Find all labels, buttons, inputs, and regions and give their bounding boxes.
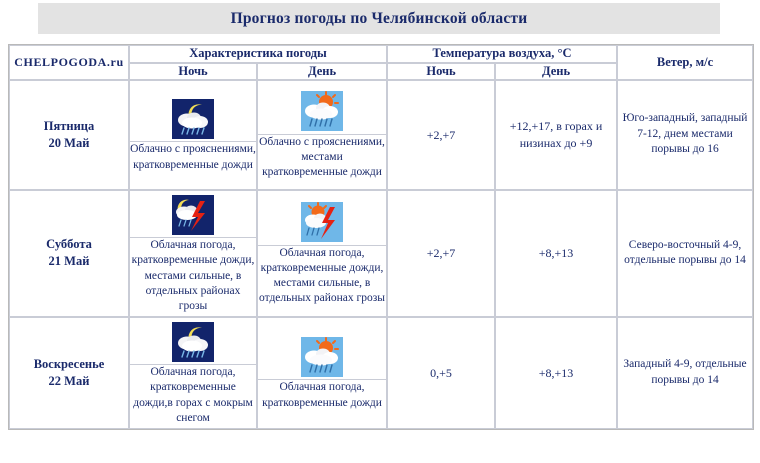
- page-title-banner: Прогноз погоды по Челябинской области: [38, 3, 720, 34]
- temp-day-value: +12,+17, в горах и низинах до +9: [495, 80, 617, 190]
- moon-clouds-rain-icon: [172, 322, 214, 362]
- temp-night-value: +2,+7: [387, 190, 495, 317]
- temp-day-value: +8,+13: [495, 317, 617, 429]
- day-date: 20 Май: [10, 135, 128, 152]
- header-wind-group: Ветер, м/с: [617, 45, 753, 80]
- day-weather-description: Облачная погода, кратковременные дожди, …: [258, 246, 386, 307]
- day-cell: Пятница 20 Май: [9, 80, 129, 190]
- day-date: 21 Май: [10, 253, 128, 270]
- sun-clouds-rain-icon: [301, 91, 343, 131]
- night-weather-description: Облачная погода, кратковременные дожди, …: [130, 238, 256, 314]
- wind-value: Западный 4-9, отдельные порывы до 14: [617, 317, 753, 429]
- night-weather-icon-cell: [130, 319, 256, 365]
- header-row-groups: CHELPOGODA.ru Характеристика погоды Темп…: [9, 45, 753, 63]
- day-weather-icon-cell: [258, 89, 386, 135]
- header-weather-group: Характеристика погоды: [129, 45, 387, 63]
- header-temp-night: Ночь: [387, 63, 495, 80]
- weather-forecast-table: CHELPOGODA.ru Характеристика погоды Темп…: [8, 44, 754, 430]
- day-name: Воскресенье: [10, 356, 128, 373]
- day-weather-icon-cell: [258, 200, 386, 246]
- day-name: Суббота: [10, 236, 128, 253]
- day-name: Пятница: [10, 118, 128, 135]
- header-temperature-group: Температура воздуха, °C: [387, 45, 617, 63]
- table-row: Суббота 21 Май: [9, 190, 753, 317]
- brand-cell: CHELPOGODA.ru: [9, 45, 129, 80]
- night-weather-description: Облачно с прояснениями, кратковременные …: [130, 142, 256, 172]
- day-weather-description: Облачно с прояснениями, местами кратковр…: [258, 135, 386, 181]
- night-weather-icon-cell: [130, 192, 256, 238]
- page-title: Прогноз погоды по Челябинской области: [231, 10, 528, 28]
- table-header: CHELPOGODA.ru Характеристика погоды Темп…: [9, 45, 753, 80]
- day-weather-cell: Облачная погода, кратковременные дожди: [257, 317, 387, 429]
- sun-clouds-rain-icon: [301, 337, 343, 377]
- moon-clouds-rain-icon: [172, 99, 214, 139]
- temp-day-value: +8,+13: [495, 190, 617, 317]
- day-weather-cell: Облачно с прояснениями, местами кратковр…: [257, 80, 387, 190]
- night-weather-icon-cell: [130, 96, 256, 142]
- day-weather-icon-cell: [258, 334, 386, 380]
- temp-night-value: 0,+5: [387, 317, 495, 429]
- wind-value: Северо-восточный 4-9, отдельные порывы д…: [617, 190, 753, 317]
- night-weather-cell: Облачная погода, кратковременные дожди, …: [129, 190, 257, 317]
- day-cell: Воскресенье 22 Май: [9, 317, 129, 429]
- header-weather-night: Ночь: [129, 63, 257, 80]
- wind-value: Юго-западный, западный 7-12, днем местам…: [617, 80, 753, 190]
- temp-night-value: +2,+7: [387, 80, 495, 190]
- table-row: Воскресенье 22 Май: [9, 317, 753, 429]
- table-row: Пятница 20 Май: [9, 80, 753, 190]
- sun-cloud-thunder-icon: [301, 202, 343, 242]
- header-weather-day: День: [257, 63, 387, 80]
- brand-label: CHELPOGODA.ru: [14, 55, 123, 69]
- header-temp-day: День: [495, 63, 617, 80]
- day-weather-description: Облачная погода, кратковременные дожди: [258, 380, 386, 410]
- night-weather-cell: Облачная погода, кратковременные дожди,в…: [129, 317, 257, 429]
- table-body: Пятница 20 Май: [9, 80, 753, 429]
- day-cell: Суббота 21 Май: [9, 190, 129, 317]
- moon-cloud-thunder-icon: [172, 195, 214, 235]
- day-date: 22 Май: [10, 373, 128, 390]
- night-weather-description: Облачная погода, кратковременные дожди,в…: [130, 365, 256, 426]
- day-weather-cell: Облачная погода, кратковременные дожди, …: [257, 190, 387, 317]
- night-weather-cell: Облачно с прояснениями, кратковременные …: [129, 80, 257, 190]
